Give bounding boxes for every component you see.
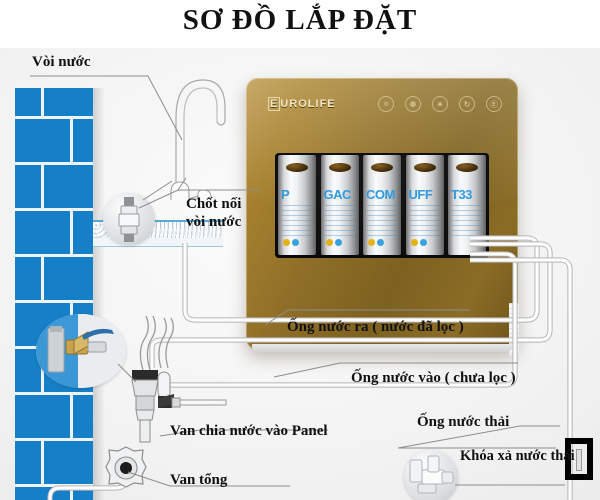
cartridge-print xyxy=(452,205,482,239)
angle-valve-photo-inset xyxy=(36,314,126,388)
cartridge-cap-icon xyxy=(329,163,351,172)
cartridge-print xyxy=(410,205,440,239)
cartridge-print xyxy=(325,205,355,239)
faucet-drawing xyxy=(145,60,255,200)
brick-wall xyxy=(15,88,93,500)
device-base xyxy=(252,344,512,352)
installation-diagram: SƠ ĐỒ LẮP ĐẶT xyxy=(0,0,600,500)
eco-icon[interactable]: Ⓔ xyxy=(486,96,502,112)
cartridge-print xyxy=(282,205,312,239)
label-waste-pipe: Ống nước thải xyxy=(417,414,509,431)
cartridge-seal-icon xyxy=(283,239,290,246)
cartridge-print xyxy=(367,205,397,239)
brand-logo-initial: E xyxy=(268,97,280,111)
cartridge-cap-icon xyxy=(371,163,393,172)
filter-cartridge: GAC xyxy=(321,155,359,255)
brand-logo-text: UROLIFE xyxy=(280,98,335,110)
cartridge-label: COM xyxy=(366,187,395,202)
cartridge-badge-icon xyxy=(377,239,384,246)
filter-cartridge: COM xyxy=(363,155,401,255)
label-outlet-pipe: Ống nước ra ( nước đã lọc ) xyxy=(287,319,464,336)
cartridge-badge-icon xyxy=(420,239,427,246)
brand-logo: EUROLIFE xyxy=(268,98,336,110)
filter-cartridge: P xyxy=(278,155,316,255)
cartridge-cap-icon xyxy=(414,163,436,172)
cartridge-seal-icon xyxy=(368,239,375,246)
label-main-valve: Van tổng xyxy=(170,472,227,489)
main-valve-wheel xyxy=(104,446,148,490)
label-inlet-pipe: Ống nước vào ( chưa lọc ) xyxy=(351,370,516,387)
cartridge-seal-icon xyxy=(411,239,418,246)
cartridge-label: T33 xyxy=(451,187,472,202)
cartridge-cap-icon xyxy=(286,163,308,172)
connector-photo-inset xyxy=(103,193,155,245)
filter-cartridge: T33 xyxy=(448,155,486,255)
cartridge-badge-icon xyxy=(335,239,342,246)
power-icon[interactable]: ⌽ xyxy=(378,96,394,112)
water-purifier-device: EUROLIFE ⌽ ☸ ☀ ↻ Ⓔ P GAC xyxy=(246,78,518,350)
wall-shadow xyxy=(93,88,105,500)
reset-icon[interactable]: ↻ xyxy=(459,96,475,112)
cartridge-label: UFF xyxy=(409,187,433,202)
cartridge-label: GAC xyxy=(324,187,351,202)
diagram-canvas: EUROLIFE ⌽ ☸ ☀ ↻ Ⓔ P GAC xyxy=(0,48,600,500)
cartridge-label: P xyxy=(281,187,289,202)
control-panel[interactable]: ⌽ ☸ ☀ ↻ Ⓔ xyxy=(378,96,502,112)
filter-icon[interactable]: ☸ xyxy=(405,96,421,112)
label-faucet-connector-line2: vòi nước xyxy=(186,214,241,231)
cartridge-cap-icon xyxy=(456,163,478,172)
label-faucet: Vòi nước xyxy=(32,54,91,71)
uv-icon[interactable]: ☀ xyxy=(432,96,448,112)
waste-valve-handle-icon xyxy=(576,449,582,471)
waste-valve-photo-inset xyxy=(404,450,458,500)
label-waste-valve: Khóa xả nước thải xyxy=(460,448,575,465)
label-panel-valve: Van chia nước vào Panel xyxy=(170,423,328,440)
cartridge-badge-icon xyxy=(292,239,299,246)
filter-window: P GAC COM xyxy=(275,153,489,258)
cartridge-seal-icon xyxy=(326,239,333,246)
page-title: SƠ ĐỒ LẮP ĐẶT xyxy=(0,4,600,37)
filter-cartridge: UFF xyxy=(406,155,444,255)
label-faucet-connector-line1: Chốt nối xyxy=(186,196,241,213)
